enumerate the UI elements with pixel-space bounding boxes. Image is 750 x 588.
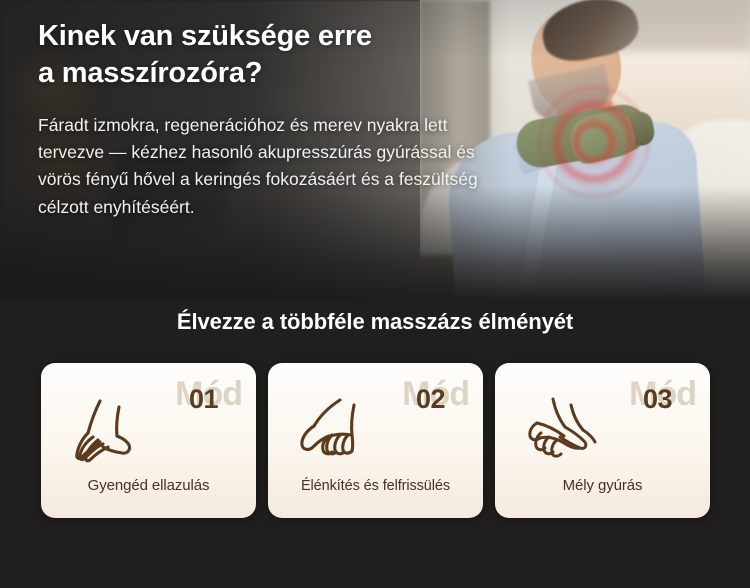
mode-label: Élénkítés és felfrissülés (268, 478, 483, 494)
page-title-line-1: Kinek van szüksége erre (38, 20, 372, 52)
mode-label: Gyengéd ellazulás (41, 477, 256, 494)
gentle-hand-icon (69, 395, 165, 467)
page-title: Kinek van szüksége errea masszírozóra? (38, 18, 488, 92)
hero-description: Fáradt izmokra, regenerációhoz és merev … (38, 112, 488, 221)
mode-number: 02 (416, 386, 445, 413)
modes-section: Élvezze a többféle masszázs élményét Mód… (0, 300, 750, 588)
mode-label: Mély gyúrás (495, 477, 710, 494)
fist-hand-icon (296, 395, 392, 467)
two-hands-kneading-icon (523, 395, 619, 467)
mode-number: 01 (189, 386, 218, 413)
modes-title: Élvezze a többféle masszázs élményét (0, 300, 750, 335)
mode-card-02[interactable]: Mód 02 Élénkítés és felfrissülés (268, 363, 483, 518)
page-title-line-2: a masszírozóra? (38, 57, 262, 89)
hero-section: Kinek van szüksége errea masszírozóra? F… (0, 0, 750, 300)
mode-card-list: Mód 01 Gyengéd ellazulás Mód (41, 363, 710, 518)
mode-number: 03 (643, 386, 672, 413)
mode-card-03[interactable]: Mód 03 Mély gy (495, 363, 710, 518)
hero-copy: Kinek van szüksége errea masszírozóra? F… (38, 18, 488, 221)
promo-page: Kinek van szüksége errea masszírozóra? F… (0, 0, 750, 588)
mode-card-01[interactable]: Mód 01 Gyengéd ellazulás (41, 363, 256, 518)
